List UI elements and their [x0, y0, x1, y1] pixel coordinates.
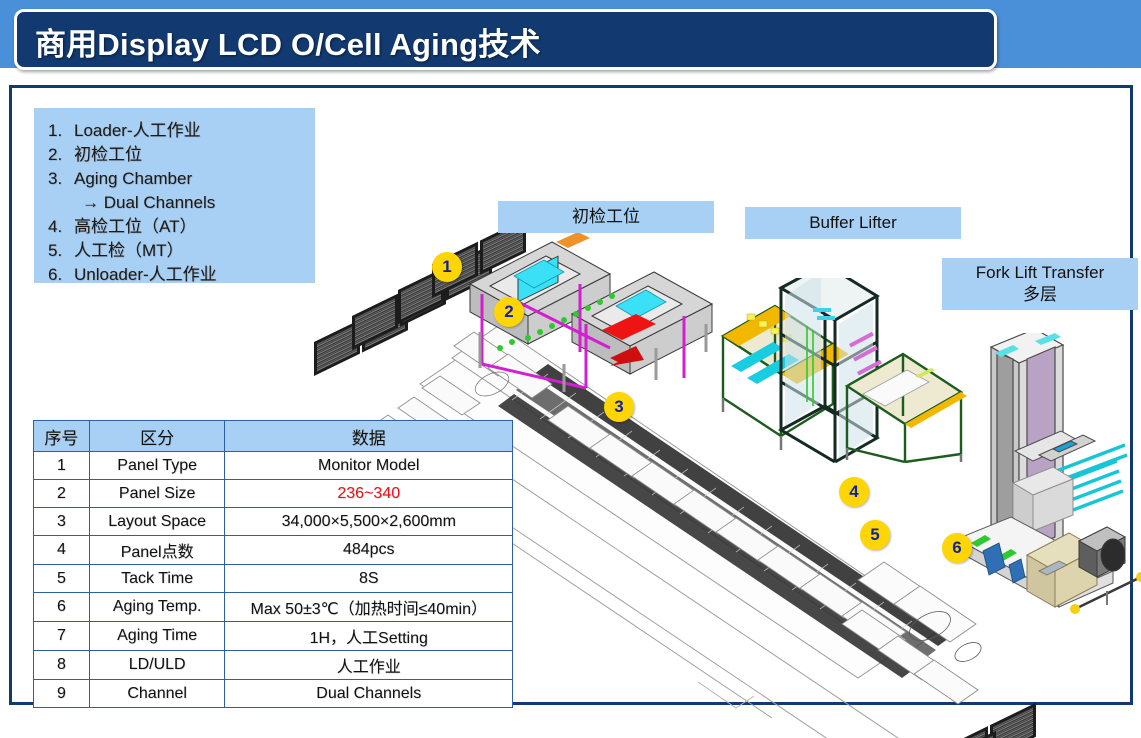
spec-cell-value: 人工作业: [225, 651, 513, 680]
process-step-item: → Dual Channels: [34, 191, 315, 215]
spec-cell-value: Max 50±3℃（加热时间≤40min）: [225, 593, 513, 622]
label-prescreen-station: 初检工位: [498, 201, 714, 233]
spec-cell-value: 8S: [225, 565, 513, 593]
step-callout-4: 4: [839, 477, 869, 507]
label-fork-lift-transfer: Fork Lift Transfer 多层: [942, 258, 1138, 310]
process-step-number: 2.: [48, 143, 74, 167]
step-callout-1: 1: [432, 252, 462, 282]
label-forklift-line2: 多层: [1023, 284, 1057, 306]
process-step-label: 人工检（MT）: [74, 241, 184, 260]
table-row: 7Aging Time1H，人工Setting: [34, 622, 513, 651]
spec-cell-no: 2: [34, 480, 90, 508]
spec-cell-item: Tack Time: [89, 565, 225, 593]
spec-table: 序号 区分 数据 1Panel TypeMonitor Model2Panel …: [33, 420, 513, 708]
process-step-label: 初检工位: [74, 145, 142, 164]
step-callout-5: 5: [860, 520, 890, 550]
step-callout-2: 2: [494, 297, 524, 327]
process-step-item: 4.高检工位（AT）: [34, 215, 315, 239]
th-item: 区分: [89, 421, 225, 452]
spec-cell-no: 5: [34, 565, 90, 593]
spec-cell-item: Panel点数: [89, 536, 225, 565]
spec-cell-item: Panel Size: [89, 480, 225, 508]
label-prescreen-text: 初检工位: [572, 206, 640, 228]
process-step-label: Loader-人工作业: [74, 121, 201, 140]
spec-cell-item: Layout Space: [89, 508, 225, 536]
process-step-number: 3.: [48, 167, 74, 191]
table-row: 6Aging Temp.Max 50±3℃（加热时间≤40min）: [34, 593, 513, 622]
process-step-number: 5.: [48, 239, 74, 263]
table-row: 9ChannelDual Channels: [34, 680, 513, 708]
table-row: 5Tack Time8S: [34, 565, 513, 593]
spec-cell-no: 1: [34, 452, 90, 480]
process-steps-list: 1.Loader-人工作业2.初检工位3.Aging Chamber→ Dual…: [34, 108, 315, 287]
process-step-item: 5.人工检（MT）: [34, 239, 315, 263]
fork-lift-transfer-illustration: [957, 333, 1141, 633]
process-step-number: 4.: [48, 215, 74, 239]
buffer-lifter-illustration: [717, 278, 967, 463]
th-val: 数据: [225, 421, 513, 452]
spec-cell-value: 34,000×5,500×2,600mm: [225, 508, 513, 536]
content-frame: 1.Loader-人工作业2.初检工位3.Aging Chamber→ Dual…: [9, 85, 1133, 705]
table-header-row: 序号 区分 数据: [34, 421, 513, 452]
label-forklift-line1: Fork Lift Transfer: [976, 262, 1104, 284]
spec-cell-no: 7: [34, 622, 90, 651]
spec-cell-item: Channel: [89, 680, 225, 708]
spec-cell-item: LD/ULD: [89, 651, 225, 680]
th-no: 序号: [34, 421, 90, 452]
table-row: 8LD/ULD人工作业: [34, 651, 513, 680]
spec-cell-value: Monitor Model: [225, 452, 513, 480]
process-step-item: 3.Aging Chamber: [34, 167, 315, 191]
process-steps-box: 1.Loader-人工作业2.初检工位3.Aging Chamber→ Dual…: [34, 108, 315, 283]
process-step-item: 6.Unloader-人工作业: [34, 263, 315, 287]
table-row: 1Panel TypeMonitor Model: [34, 452, 513, 480]
step-callout-3: 3: [604, 392, 634, 422]
table-row: 3Layout Space34,000×5,500×2,600mm: [34, 508, 513, 536]
spec-cell-no: 6: [34, 593, 90, 622]
spec-cell-no: 8: [34, 651, 90, 680]
step-callout-6: 6: [942, 533, 972, 563]
spec-cell-item: Panel Type: [89, 452, 225, 480]
spec-cell-value: 1H，人工Setting: [225, 622, 513, 651]
page-title: 商用Display LCD O/Cell Aging技术: [35, 19, 541, 64]
slide-title-box: 商用Display LCD O/Cell Aging技术: [14, 9, 997, 70]
spec-table-body: 1Panel TypeMonitor Model2Panel Size236~3…: [34, 452, 513, 708]
process-step-number: 1.: [48, 119, 74, 143]
process-step-label: 高检工位（AT）: [74, 217, 196, 236]
spec-cell-item: Aging Time: [89, 622, 225, 651]
spec-cell-no: 9: [34, 680, 90, 708]
spec-cell-value: 484pcs: [225, 536, 513, 565]
spec-cell-no: 3: [34, 508, 90, 536]
process-step-label: Aging Chamber: [74, 169, 192, 188]
label-buffer-text: Buffer Lifter: [809, 212, 897, 234]
label-buffer-lifter: Buffer Lifter: [745, 207, 961, 239]
spec-cell-value: Dual Channels: [225, 680, 513, 708]
process-step-item: 2.初检工位: [34, 143, 315, 167]
spec-cell-no: 4: [34, 536, 90, 565]
process-step-number: 6.: [48, 263, 74, 287]
process-step-label: → Dual Channels: [82, 193, 215, 212]
table-row: 2Panel Size236~340: [34, 480, 513, 508]
table-row: 4Panel点数484pcs: [34, 536, 513, 565]
spec-cell-value: 236~340: [225, 480, 513, 508]
process-step-label: Unloader-人工作业: [74, 265, 217, 284]
spec-cell-item: Aging Temp.: [89, 593, 225, 622]
process-step-item: 1.Loader-人工作业: [34, 119, 315, 143]
